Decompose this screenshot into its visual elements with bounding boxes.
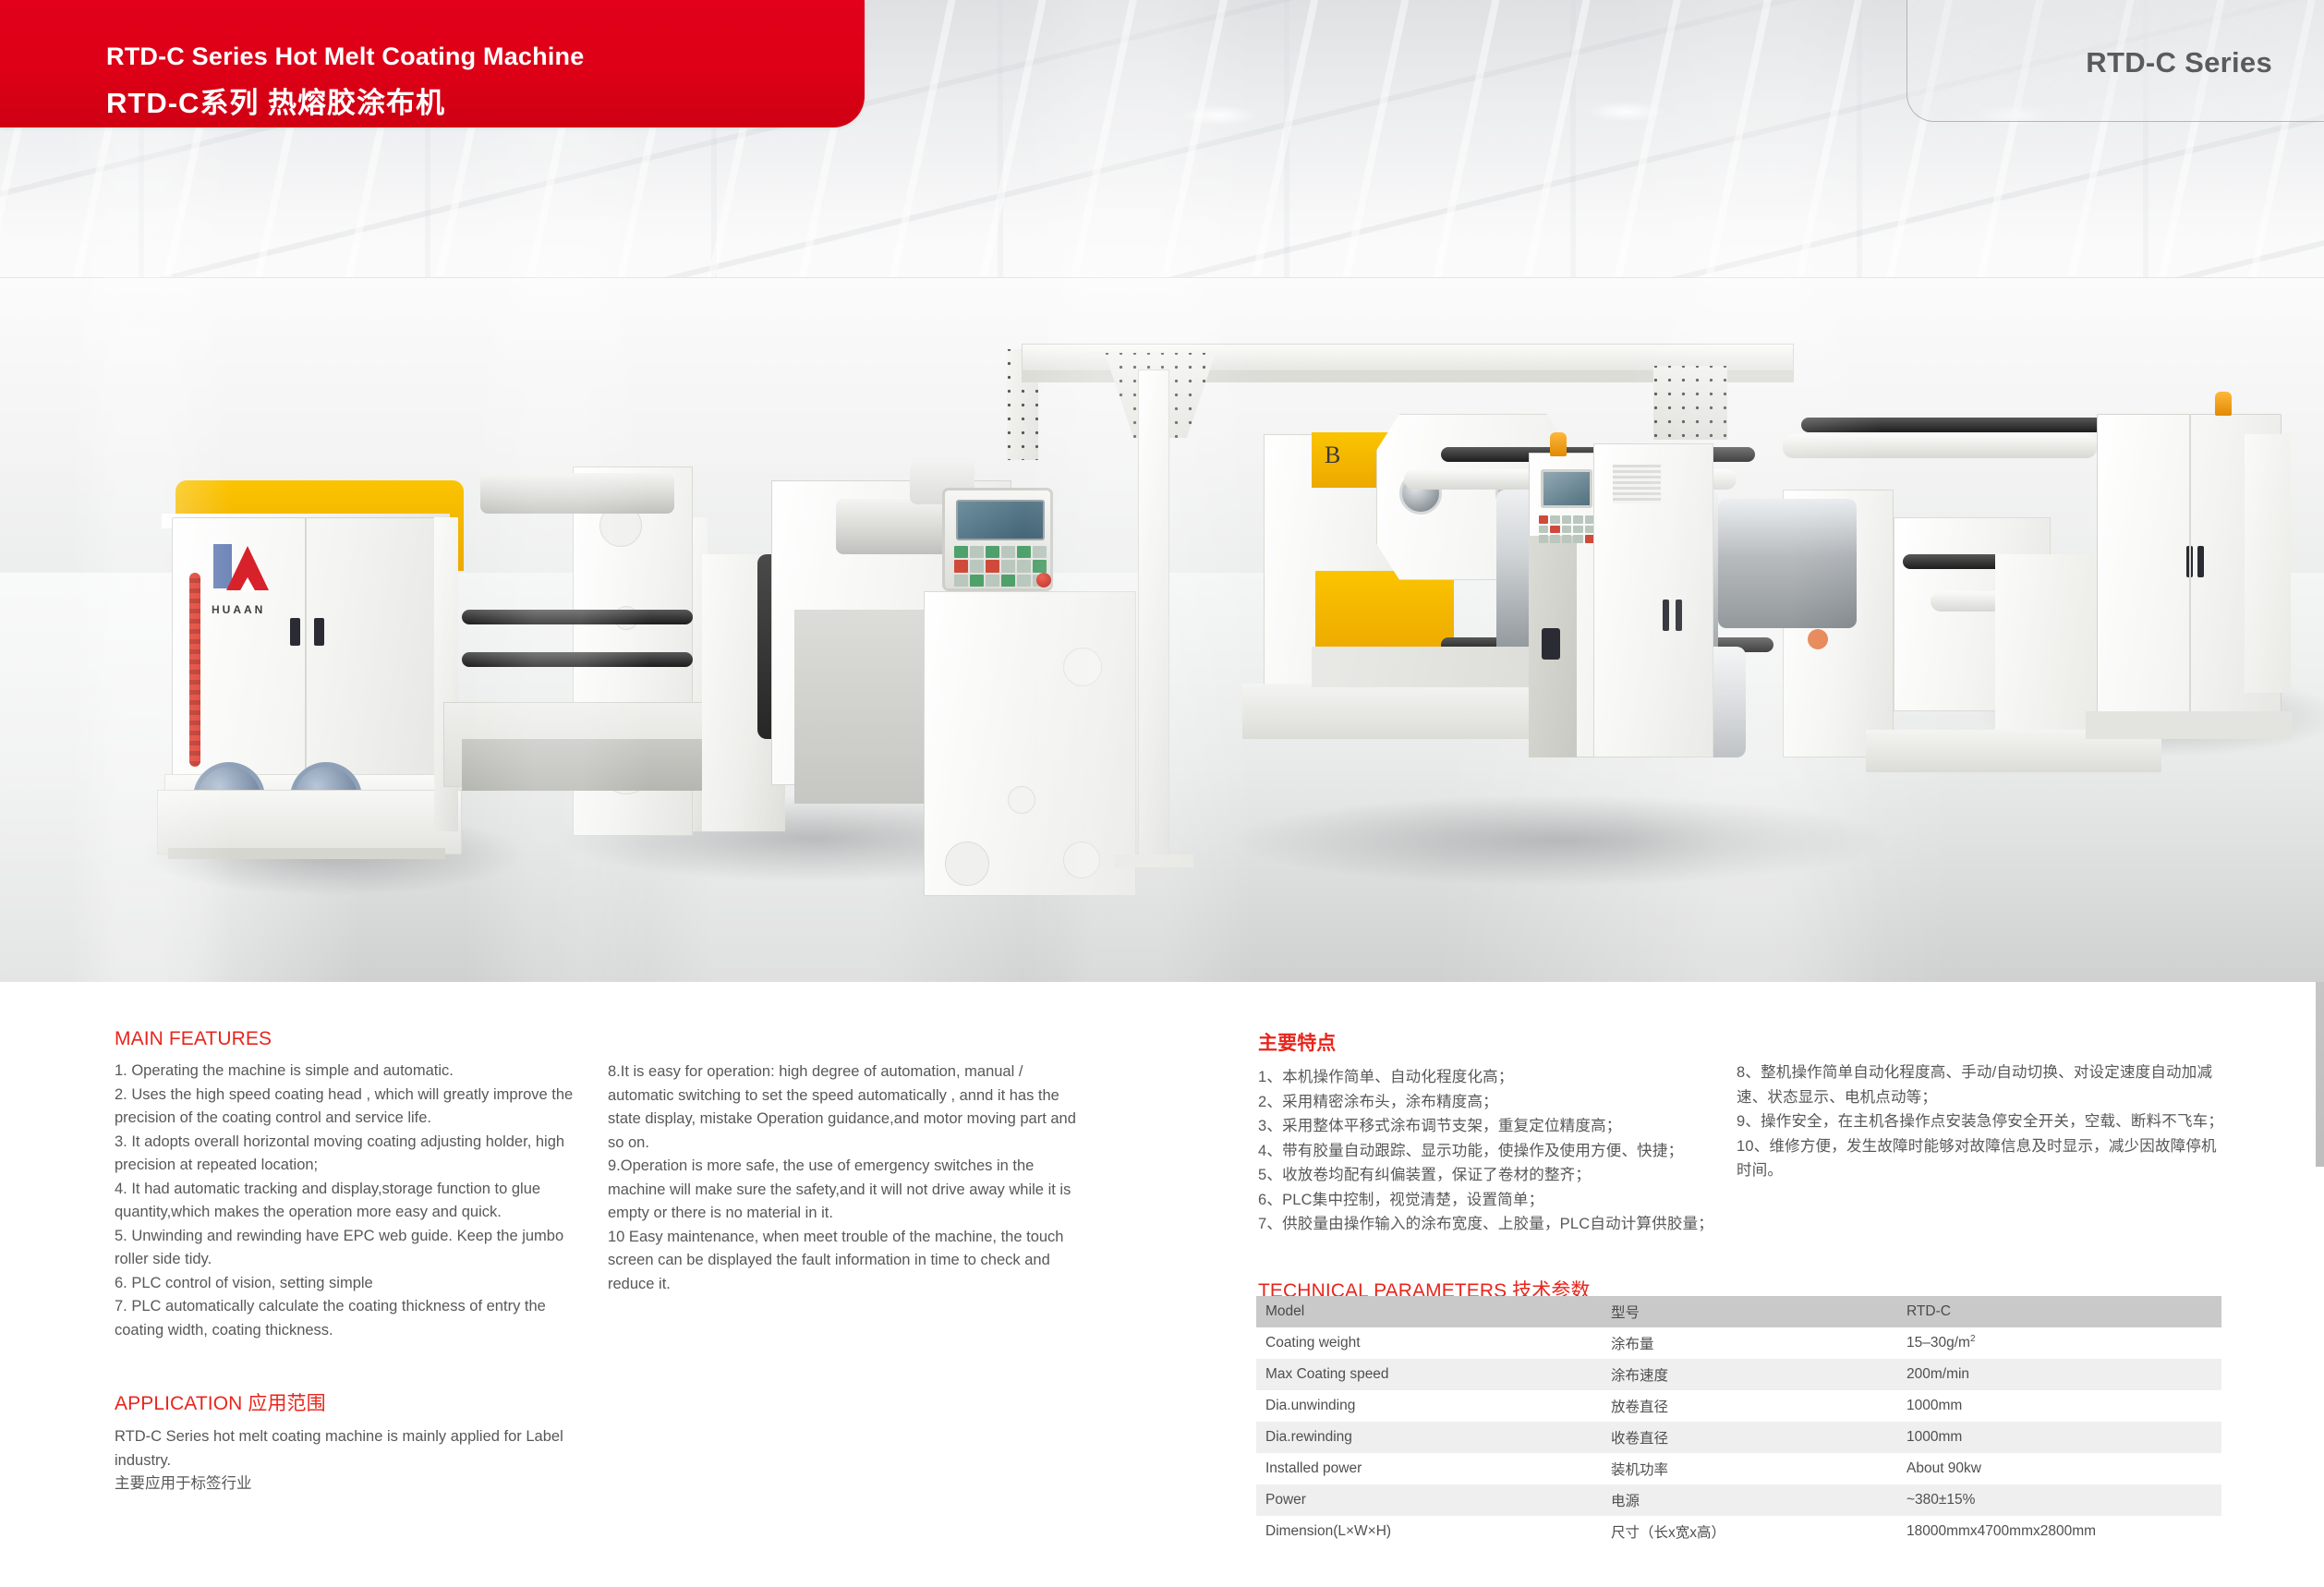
brochure-page: HUAAN [0,0,2324,1587]
table-row: Max Coating speed涂布速度200m/min [1256,1359,2221,1390]
table-row: Dia.rewinding收卷直径1000mm [1256,1422,2221,1453]
slitter-roller-top [1783,434,2097,458]
features-cn-heading: 主要特点 [1258,1028,1729,1056]
roll-guard-yellow [1315,571,1454,654]
steel-jumbo-roll [1718,499,1857,628]
main-features-column-1: MAIN FEATURES 1. Operating the machine i… [115,1028,586,1342]
right-edge-strip [2316,982,2324,1167]
param-name-cn: 放卷直径 [1600,1390,1895,1422]
hmi-screen[interactable] [956,500,1045,540]
feature-item: 6. PLC control of vision, setting simple [115,1272,586,1296]
feature-item: 8.It is easy for operation: high degree … [608,1060,1088,1155]
param-name-en: Dimension(L×W×H) [1256,1516,1600,1547]
param-value: 1000mm [1895,1422,2221,1453]
table-row: Model型号RTD-C [1256,1296,2221,1327]
feature-item: 9.Operation is more safe, the use of eme… [608,1155,1088,1226]
features-cn-column-2: 8、整机操作简单自动化程度高、手动/自动切换、对设定速度自动加减速、状态显示、电… [1737,1060,2232,1183]
coating-machine-line: HUAAN [0,0,2324,982]
application-body: RTD-C Series hot melt coating machine is… [115,1425,595,1496]
left-base-rail [168,848,445,859]
left-machine-base [157,790,462,854]
cabinet-hmi-screen[interactable] [1541,469,1592,508]
param-name-cn: 型号 [1600,1296,1895,1327]
banner-title-en: RTD-C Series Hot Melt Coating Machine [106,42,584,71]
param-name-en: Max Coating speed [1256,1359,1600,1390]
gantry-column [1138,369,1169,859]
feature-item-cn: 2、采用精密涂布头，涂布精度高； [1258,1090,1729,1115]
feature-item-cn: 4、带有胶量自动跟踪、显示功能，使操作及使用方便、快捷； [1258,1139,1729,1164]
table-row: Coating weight涂布量15–30g/m2 [1256,1327,2221,1359]
param-value: About 90kw [1895,1453,2221,1484]
product-photo: HUAAN [0,0,2324,982]
huaan-logo-text: HUAAN [212,603,265,616]
application-heading: APPLICATION 应用范围 [115,1388,595,1416]
far-cabinet-base [2086,711,2293,739]
unwind-roller-top [480,473,674,514]
hmi-keypad[interactable] [954,546,1047,587]
param-name-cn: 涂布量 [1600,1327,1895,1359]
application-section: APPLICATION 应用范围 RTD-C Series hot melt c… [115,1388,595,1496]
param-name-en: Dia.rewinding [1256,1422,1600,1453]
guide-bar-2 [462,652,693,667]
param-name-en: Power [1256,1484,1600,1516]
feature-item-cn: 7、供胶量由操作输入的涂布宽度、上胶量，PLC自动计算供胶量； [1258,1212,1729,1237]
huaan-logo [212,544,280,601]
features-cn-column-1: 主要特点 1、本机操作简单、自动化程度化高； 2、采用精密涂布头，涂布精度高； … [1258,1028,1729,1237]
cabinet-handle-left [290,618,300,646]
cabinet-door-seam [305,517,307,794]
feature-item: 2. Uses the high speed coating head , wh… [115,1084,586,1131]
main-features-column-2: 8.It is easy for operation: high degree … [608,1060,1088,1296]
table-row: Power电源~380±15% [1256,1484,2221,1516]
emergency-stop-button[interactable] [1036,573,1051,588]
gantry-right-joint [1653,366,1727,440]
table-row: Installed power装机功率About 90kw [1256,1453,2221,1484]
param-name-cn: 尺寸（长x宽x高） [1600,1516,1895,1547]
table-row: Dia.unwinding放卷直径1000mm [1256,1390,2221,1422]
header-banner: RTD-C Series Hot Melt Coating Machine RT… [0,0,865,127]
feature-item-cn: 6、PLC集中控制，视觉清楚，设置简单； [1258,1188,1729,1213]
feature-item: 7. PLC automatically calculate the coati… [115,1295,586,1342]
param-value: 1000mm [1895,1390,2221,1422]
series-label: RTD-C Series [1907,46,2272,79]
features-cn-list-1: 1、本机操作简单、自动化程度化高； 2、采用精密涂布头，涂布精度高； 3、采用整… [1258,1065,1729,1237]
table-row: Dimension(L×W×H)尺寸（长x宽x高）18000mmx4700mmx… [1256,1516,2221,1547]
param-value: 200m/min [1895,1359,2221,1390]
param-name-cn: 装机功率 [1600,1453,1895,1484]
feature-item-cn: 9、操作安全，在主机各操作点安装急停安全开关，空载、断料不飞车； [1737,1109,2232,1134]
application-text-en: RTD-C Series hot melt coating machine is… [115,1425,595,1472]
coiled-hose [189,573,200,767]
feature-item: 3. It adopts overall horizontal moving c… [115,1131,586,1178]
cabinet-handle-right [314,618,324,646]
param-name-en: Installed power [1256,1453,1600,1484]
feature-item: 4. It had automatic tracking and display… [115,1178,586,1225]
series-corner-panel: RTD-C Series [1906,0,2324,122]
technical-parameters-table: Model型号RTD-CCoating weight涂布量15–30g/m2Ma… [1256,1296,2221,1547]
far-cabinet-seam [2189,414,2191,719]
beacon-light-left [1550,432,1567,456]
far-right-panel [2245,434,2291,693]
banner-title-cn: RTD-C系列 热熔胶涂布机 [106,79,445,121]
feature-item-cn: 1、本机操作简单、自动化程度化高； [1258,1065,1729,1090]
param-value: 18000mmx4700mmx2800mm [1895,1516,2221,1547]
param-value: ~380±15% [1895,1484,2221,1516]
feature-item: 5. Unwinding and rewinding have EPC web … [115,1225,586,1272]
shadow-right [1229,794,1894,887]
roll-label-b: B [1325,442,1340,469]
guide-bar-1 [462,610,693,624]
feature-item: 10 Easy maintenance, when meet trouble o… [608,1226,1088,1297]
slitter-shaft-top [1801,418,2106,432]
main-features-list-2: 8.It is easy for operation: high degree … [608,1060,1088,1296]
features-cn-list-2: 8、整机操作简单自动化程度高、手动/自动切换、对设定速度自动加减速、状态显示、电… [1737,1060,2232,1183]
param-name-en: Dia.unwinding [1256,1390,1600,1422]
feature-item-cn: 5、收放卷均配有纠偏装置，保证了卷材的整齐； [1258,1163,1729,1188]
vent-grille [1613,465,1661,503]
main-features-list-1: 1. Operating the machine is simple and a… [115,1060,586,1342]
feature-item: 1. Operating the machine is simple and a… [115,1060,586,1084]
param-name-cn: 收卷直径 [1600,1422,1895,1453]
panel-switch[interactable] [1542,628,1560,660]
main-features-heading: MAIN FEATURES [115,1028,586,1050]
param-name-en: Model [1256,1296,1600,1327]
param-name-cn: 涂布速度 [1600,1359,1895,1390]
feature-item-cn: 10、维修方便，发生故障时能够对故障信息及时显示，减少因故障停机时间。 [1737,1134,2232,1183]
param-value: RTD-C [1895,1296,2221,1327]
gantry-column-foot [1114,854,1193,867]
application-text-cn: 主要应用于标签行业 [115,1472,595,1496]
web-table-tray [462,739,730,791]
control-cabinet-panel [1529,536,1577,757]
beacon-light-right [2215,392,2232,416]
cabinet-keypad[interactable] [1539,515,1594,543]
feature-item-cn: 8、整机操作简单自动化程度高、手动/自动切换、对设定速度自动加减速、状态显示、电… [1737,1060,2232,1109]
param-value: 15–30g/m2 [1895,1327,2221,1359]
param-name-en: Coating weight [1256,1327,1600,1359]
electrical-cabinet [1593,443,1713,757]
param-name-cn: 电源 [1600,1484,1895,1516]
feature-item-cn: 3、采用整体平移式涂布调节支架，重复定位精度高； [1258,1114,1729,1139]
machine-side-plate-mid [924,591,1136,896]
